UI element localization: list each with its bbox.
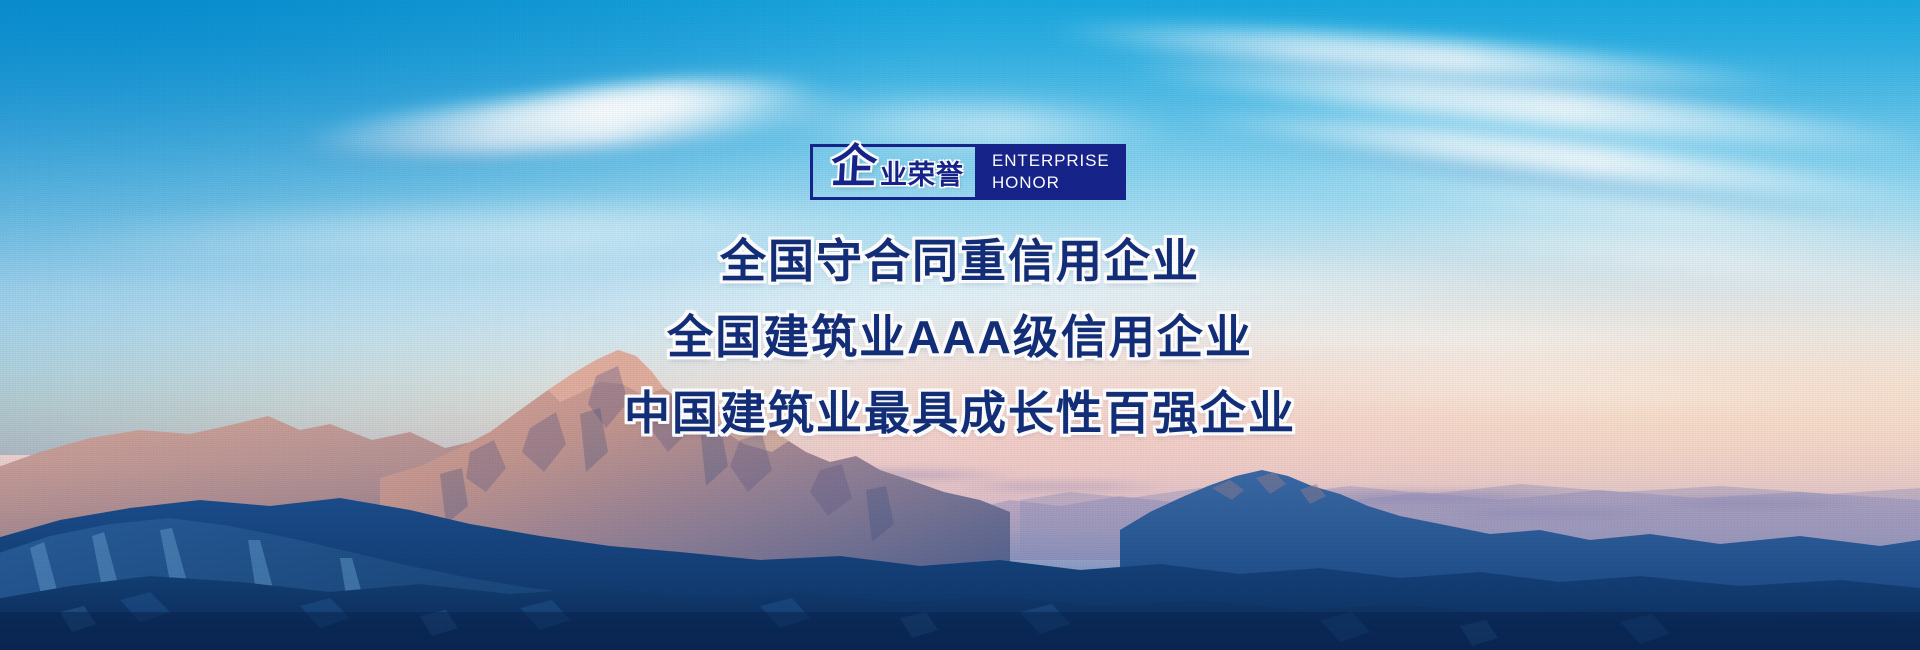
logo-qi-character: 企 <box>830 144 877 190</box>
headline-line-2: 全国建筑业AAA级信用企业 <box>0 314 1920 360</box>
enterprise-honor-banner: 企 业荣誉 ENTERPRISE HONOR 全国守合同重信用企业 全国建筑业A… <box>0 0 1920 650</box>
logo-english-box: ENTERPRISE HONOR <box>978 144 1126 200</box>
logo-chinese-frame: 企 业荣誉 <box>810 144 978 200</box>
logo-chinese-label: 业荣誉 <box>880 162 964 189</box>
enterprise-honor-logo: 企 业荣誉 ENTERPRISE HONOR <box>810 144 1126 200</box>
headline-group: 全国守合同重信用企业 全国建筑业AAA级信用企业 中国建筑业最具成长性百强企业 <box>0 238 1920 436</box>
logo-english-line-1: ENTERPRISE <box>992 150 1110 172</box>
headline-line-3: 中国建筑业最具成长性百强企业 <box>0 390 1920 436</box>
headline-line-1: 全国守合同重信用企业 <box>0 238 1920 284</box>
logo-english-line-2: HONOR <box>992 172 1110 194</box>
